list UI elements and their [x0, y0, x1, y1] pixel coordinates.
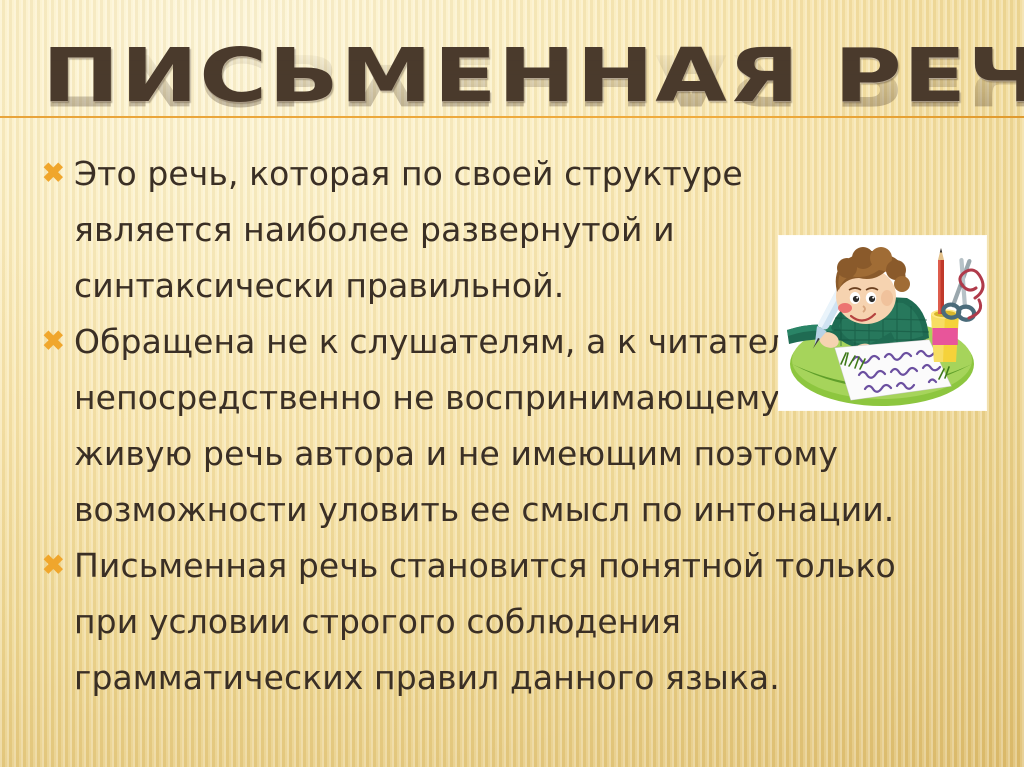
page-title: Письменная речь — [42, 34, 1024, 117]
bullet-text: Письменная речь становится понятной толь… — [74, 538, 979, 706]
bullet-row: ✖ Письменная речь становится понятной то… — [0, 538, 1024, 706]
slide: Письменная речь Письменная речь ✖ Это ре… — [0, 0, 1024, 767]
boy-writing-illustration — [779, 236, 986, 410]
cross-bullet-icon: ✖ — [42, 538, 74, 592]
bullet-line: возможности уловить ее смысл по интонаци… — [74, 482, 979, 538]
title-divider-rule — [0, 116, 1024, 118]
bullet-line: живую речь автора и не имеющим поэтому — [74, 426, 979, 482]
title-zone: Письменная речь Письменная речь — [0, 34, 1024, 154]
boy-writing-icon — [779, 236, 986, 410]
bullet-line: при условии строгого соблюдения — [74, 594, 979, 650]
bullet-item: ✖ Письменная речь становится понятной то… — [0, 538, 1024, 706]
cross-bullet-icon: ✖ — [42, 146, 74, 200]
bullet-line: Письменная речь становится понятной толь… — [74, 538, 979, 594]
bullet-line: Это речь, которая по своей структуре — [74, 146, 979, 202]
cross-bullet-icon: ✖ — [42, 314, 74, 368]
bullet-line: грамматических правил данного языка. — [74, 650, 979, 706]
